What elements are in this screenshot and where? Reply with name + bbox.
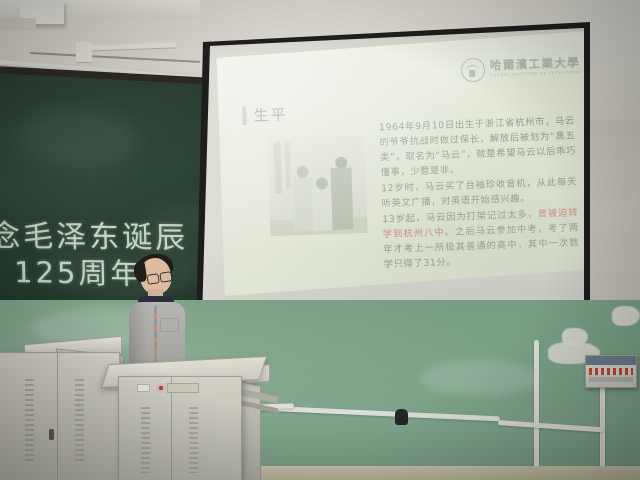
wall-mounted-knob [395, 409, 408, 425]
slide-paragraph: 1964年9月10日出生于浙江省杭州市，马云的爷爷抗战时做过保长，解放后被划为“… [379, 114, 577, 181]
classroom-photo: 念毛泽东诞辰 125周年 哈爾濱工業大學 HARBIN INSTITUTE OF… [0, 0, 640, 480]
slide-title: 生平 [253, 104, 288, 126]
university-name-en: HARBIN INSTITUTE OF TECHNOLOGY [490, 71, 583, 78]
slide-text-run: 1964年9月10日出生于浙江省杭州市，马云的爷爷抗战时做过保长，解放后被划为“… [379, 116, 576, 179]
cabinet-vent [25, 379, 34, 461]
panel-header [586, 356, 636, 365]
wall-wire [30, 52, 200, 63]
university-logo: 哈爾濱工業大學 HARBIN INSTITUTE OF TECHNOLOGY [461, 53, 584, 83]
podium-label [137, 384, 150, 392]
wall-pipe-elbow [498, 420, 604, 432]
wall-pipe-vertical [534, 340, 539, 480]
slide-title-row: 生平 [242, 104, 288, 127]
slide-paragraph: 13岁起，马云因为打架记过太多，曾被迫转学到杭州八中。之后马云参加中考，考了两年… [382, 206, 580, 273]
panel-lower-row [589, 377, 633, 382]
cabinet-vent [75, 379, 84, 461]
paint-peel [612, 306, 640, 326]
ceiling-fixture-secondary [0, 18, 36, 30]
title-accent-bar [242, 106, 247, 125]
panel-breaker-row [589, 368, 633, 375]
cardigan-pocket [160, 318, 179, 332]
cabinet-lock [49, 429, 54, 440]
slide-body-text: 1964年9月10日出生于浙江省杭州市，马云的爷爷抗战时做过保长，解放后被划为“… [379, 114, 580, 274]
slide-text-run: 12岁时，马云买了台袖珍收音机，从此每天听英文广播，对英语开始感兴趣。 [381, 177, 577, 210]
presentation-slide: 哈爾濱工業大學 HARBIN INSTITUTE OF TECHNOLOGY 生… [216, 31, 584, 302]
slide-text-run: 13岁起，马云因为打架记过太多， [382, 209, 538, 225]
podium-control-strip [167, 383, 199, 393]
podium-power-led [159, 386, 163, 390]
lecture-podium[interactable] [118, 376, 242, 480]
electrical-panel[interactable] [585, 355, 637, 388]
equipment-cabinet-left[interactable] [0, 352, 120, 480]
podium-vent [141, 407, 150, 473]
wall-conduit-upper-right [84, 42, 176, 51]
wall-box-small [76, 42, 92, 63]
slide-photo [267, 135, 367, 236]
podium-vent [189, 407, 198, 473]
projection-screen: 哈爾濱工業大學 HARBIN INSTITUTE OF TECHNOLOGY 生… [202, 26, 584, 320]
university-crest-icon [461, 58, 486, 83]
